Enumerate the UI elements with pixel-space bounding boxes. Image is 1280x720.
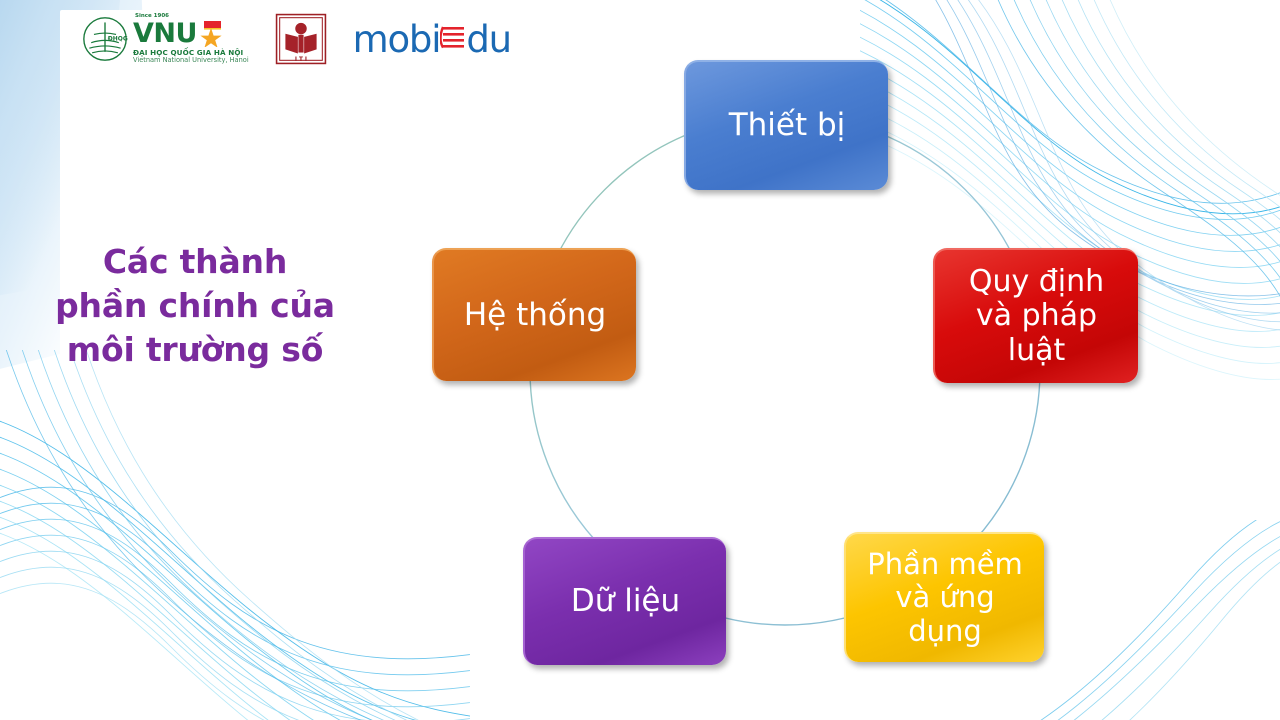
node-phan-mem-label-line1: Phần mềm: [867, 548, 1023, 581]
node-phan-mem[interactable]: Phần mềm và ứng dụng: [844, 532, 1044, 662]
node-thiet-bi-label: Thiết bị: [729, 108, 846, 143]
node-quy-dinh[interactable]: Quy định và pháp luật: [933, 248, 1138, 383]
vnu-star-flag-icon: [200, 21, 224, 47]
title-line-3: môi trường số: [36, 328, 354, 372]
node-quy-dinh-label-line1: Quy định: [969, 265, 1104, 299]
vnu-acronym-row: VNU: [133, 20, 224, 47]
vnu-acronym: VNU: [133, 20, 197, 47]
node-he-thong-label: Hệ thống: [464, 298, 606, 333]
cycle-diagram: Thiết bị Quy định và pháp luật Phần mềm …: [420, 40, 1170, 700]
vnu-wordmark: Since 1906 VNU ĐẠI HỌC QUỐC GIA HÀ NỘI V…: [133, 14, 249, 63]
node-quy-dinh-label-line2: và pháp: [969, 299, 1104, 333]
title-line-2: phần chính của: [36, 284, 354, 328]
wave-decoration-bottom-left: [0, 350, 470, 720]
vnu-seal-icon: ĐHQGHN: [82, 16, 128, 62]
vnu-logo: ĐHQGHN Since 1906 VNU ĐẠI HỌC QUỐC GIA H…: [82, 14, 249, 63]
vnu-subtitle-en: Vietnam National University, Hanoi: [133, 57, 249, 64]
node-quy-dinh-label-line3: luật: [969, 334, 1104, 368]
vnu-subtitle-vi: ĐẠI HỌC QUỐC GIA HÀ NỘI: [133, 49, 243, 56]
vnu-seal-text: ĐHQGHN: [108, 35, 128, 42]
iti-logo: I T I: [275, 13, 327, 65]
iti-caption: I T I: [295, 57, 307, 63]
slide: ĐHQGHN Since 1906 VNU ĐẠI HỌC QUỐC GIA H…: [0, 0, 1280, 720]
node-du-lieu-label: Dữ liệu: [571, 584, 680, 619]
node-he-thong[interactable]: Hệ thống: [432, 248, 636, 381]
node-phan-mem-label-line3: dụng: [867, 615, 1023, 648]
node-thiet-bi[interactable]: Thiết bị: [684, 60, 888, 190]
node-phan-mem-label-line2: và ứng: [867, 581, 1023, 614]
title-line-1: Các thành: [36, 240, 354, 284]
page-title: Các thành phần chính của môi trường số: [36, 240, 354, 372]
node-du-lieu[interactable]: Dữ liệu: [523, 537, 726, 665]
